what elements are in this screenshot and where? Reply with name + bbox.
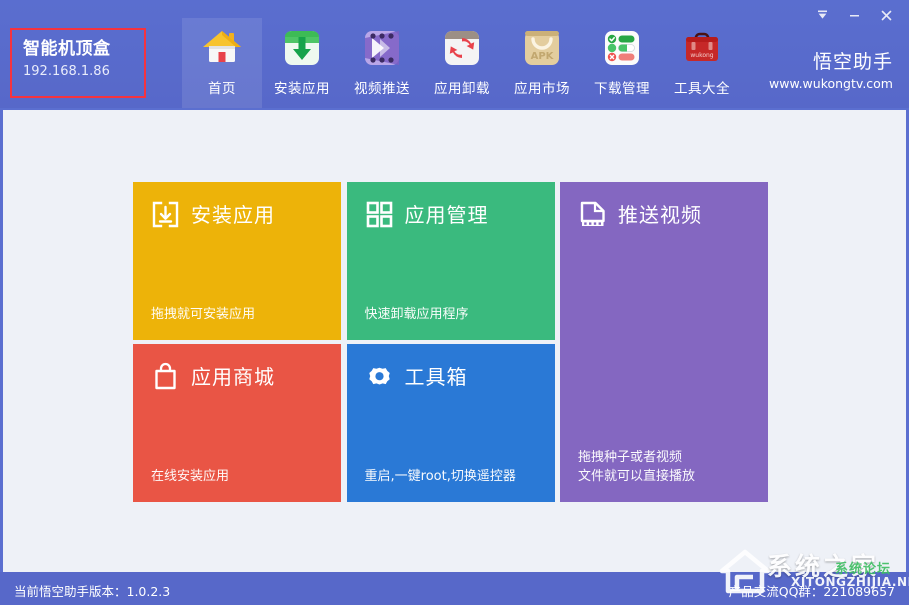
shopping-bag-icon: [151, 362, 180, 391]
tile-title: 应用商城: [191, 363, 275, 391]
install-download-icon: [280, 26, 324, 70]
brand: 悟空助手 www.wukongtv.com: [769, 50, 893, 93]
app-window: 智能机顶盒 192.168.1.86 首页: [0, 0, 909, 605]
minimize-button[interactable]: [839, 4, 869, 26]
nav-item-video-push[interactable]: 视频推送: [342, 18, 422, 108]
film-page-icon: [578, 200, 607, 229]
gear-icon: [365, 362, 394, 391]
download-box-icon: [151, 200, 180, 229]
tile-header: 推送视频: [578, 200, 768, 229]
tile-title: 应用管理: [405, 201, 489, 229]
video-push-icon: [360, 26, 404, 70]
tile-title: 推送视频: [618, 201, 702, 229]
tile-app-management[interactable]: 应用管理 快速卸载应用程序: [347, 182, 555, 340]
brand-url: www.wukongtv.com: [769, 75, 893, 93]
qq-group-text: 产品交流QQ群：221089657: [729, 581, 895, 600]
nav-label: 首页: [208, 77, 236, 97]
tile-subtitle: 快速卸载应用程序: [365, 305, 469, 324]
main-nav: 首页 安装应用: [182, 18, 742, 108]
tile-subtitle-line-1: 拖拽种子或者视频: [578, 448, 695, 467]
tile-header: 应用商城: [151, 362, 341, 391]
status-bar: 当前悟空助手版本：1.0.2.3 产品交流QQ群：221089657: [0, 572, 909, 605]
nav-item-tools[interactable]: wukong 工具大全: [662, 18, 742, 108]
tile-subtitle: 拖拽就可安装应用: [151, 305, 255, 324]
nav-label: 安装应用: [274, 77, 330, 97]
title-toolbar: 智能机顶盒 192.168.1.86 首页: [0, 0, 909, 108]
uninstall-recycle-icon: [440, 26, 484, 70]
nav-item-download-manager[interactable]: 下载管理: [582, 18, 662, 108]
tray-arrow-icon: [816, 9, 829, 22]
nav-label: 应用市场: [514, 77, 570, 97]
brand-name: 悟空助手: [769, 50, 893, 74]
toolbox-icon: wukong: [680, 26, 724, 70]
tile-grid: 安装应用 拖拽就可安装应用 应用管理 快速卸载应: [133, 182, 768, 502]
nav-item-uninstall-app[interactable]: 应用卸载: [422, 18, 502, 108]
tile-app-store[interactable]: 应用商城 在线安装应用: [133, 344, 341, 502]
nav-label: 工具大全: [674, 77, 730, 97]
tile-header: 安装应用: [151, 200, 341, 229]
tile-subtitle-line-2: 文件就可以直接播放: [578, 467, 695, 486]
device-name: 智能机顶盒: [23, 39, 144, 60]
version-text: 当前悟空助手版本：1.0.2.3: [14, 581, 170, 600]
tile-subtitle: 拖拽种子或者视频 文件就可以直接播放: [578, 448, 695, 486]
main-content: 安装应用 拖拽就可安装应用 应用管理 快速卸载应: [3, 110, 906, 572]
tile-header: 应用管理: [365, 200, 555, 229]
tile-subtitle: 在线安装应用: [151, 467, 229, 486]
device-ip: 192.168.1.86: [23, 62, 144, 81]
nav-item-home[interactable]: 首页: [182, 18, 262, 108]
nav-label: 下载管理: [594, 77, 650, 97]
close-button[interactable]: [871, 4, 901, 26]
tile-push-video[interactable]: 推送视频 拖拽种子或者视频 文件就可以直接播放: [560, 182, 768, 502]
tile-install-app[interactable]: 安装应用 拖拽就可安装应用: [133, 182, 341, 340]
apk-market-bag-icon: APK: [520, 26, 564, 70]
minimize-icon: [848, 9, 861, 22]
tile-toolbox[interactable]: 工具箱 重启,一键root,切换遥控器: [347, 344, 555, 502]
close-icon: [880, 9, 893, 22]
download-manager-list-icon: [600, 26, 644, 70]
home-icon: [200, 26, 244, 70]
window-controls: [807, 4, 901, 26]
grid-squares-icon: [365, 200, 394, 229]
device-info-box[interactable]: 智能机顶盒 192.168.1.86: [10, 28, 146, 98]
nav-item-app-market[interactable]: APK 应用市场: [502, 18, 582, 108]
nav-label: 视频推送: [354, 77, 410, 97]
nav-label: 应用卸载: [434, 77, 490, 97]
nav-item-install-app[interactable]: 安装应用: [262, 18, 342, 108]
tile-header: 工具箱: [365, 362, 555, 391]
tile-subtitle: 重启,一键root,切换遥控器: [365, 467, 516, 486]
tile-title: 工具箱: [405, 363, 468, 391]
tile-title: 安装应用: [191, 201, 275, 229]
svg-text:APK: APK: [531, 51, 555, 62]
minimize-to-tray-button[interactable]: [807, 4, 837, 26]
svg-text:wukong: wukong: [690, 52, 713, 59]
